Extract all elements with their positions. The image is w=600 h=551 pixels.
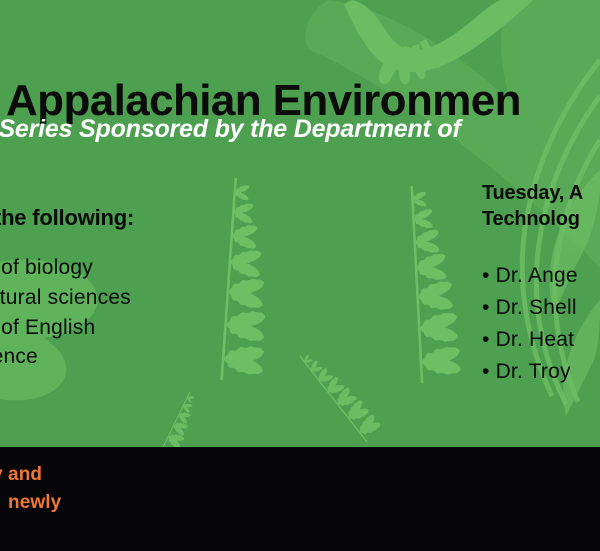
event-date-line: Tuesday, A (482, 180, 600, 206)
bullet-icon: • (482, 356, 490, 388)
right-column: Tuesday, A Technolog •Dr. Ange •Dr. Shel… (482, 180, 600, 387)
bullet-icon: • (482, 292, 490, 324)
list-item: cience (0, 342, 236, 372)
event-location-line: Technolog (482, 206, 600, 232)
poster-text-layer: Appalachian Environmen e Series Sponsore… (0, 0, 600, 551)
event-poster: Appalachian Environmen e Series Sponsore… (0, 0, 600, 551)
speaker-name: Dr. Heat (496, 328, 575, 351)
poster-green-section: Appalachian Environmen e Series Sponsore… (0, 0, 600, 447)
poster-footer-bar: y and newly (0, 447, 600, 551)
footer-text-line-1: y and (0, 464, 42, 486)
list-item: •Dr. Ange (482, 260, 600, 292)
bullet-icon: • (482, 260, 490, 292)
left-column-list: or of biology natural sciences or of Eng… (0, 253, 236, 372)
list-item: •Dr. Shell (482, 292, 600, 324)
speaker-name: Dr. Ange (496, 264, 578, 287)
speaker-name: Dr. Shell (496, 296, 577, 319)
footer-text-line-2: newly (8, 492, 61, 514)
poster-subtitle: e Series Sponsored by the Department of (0, 117, 461, 142)
list-item: or of biology (0, 253, 236, 283)
left-column: y the following: or of biology natural s… (0, 205, 236, 372)
list-item: natural sciences (0, 283, 236, 313)
list-item: •Dr. Heat (482, 324, 600, 356)
speaker-name: Dr. Troy (496, 360, 571, 383)
list-item: or of English (0, 313, 236, 343)
speaker-list: •Dr. Ange •Dr. Shell •Dr. Heat •Dr. Troy (482, 260, 600, 388)
bullet-icon: • (482, 324, 490, 356)
left-column-heading: y the following: (0, 205, 236, 231)
list-item: •Dr. Troy (482, 356, 600, 388)
